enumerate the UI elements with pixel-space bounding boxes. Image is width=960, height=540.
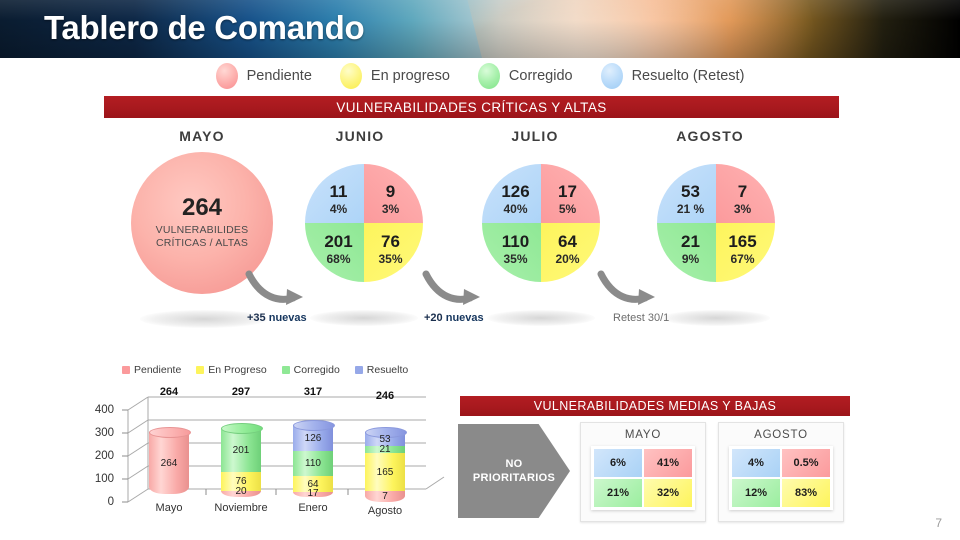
month-label-junio: JUNIO [280, 128, 440, 144]
bar-chart-legend: Pendiente En Progreso Corregido Resuelto [122, 364, 408, 376]
flow-note-junio-julio: +20 nuevas [424, 312, 484, 324]
bar-noviembre-label-pendiente: 20 [235, 486, 246, 497]
bar-agosto-label-corregido: 21 [379, 444, 390, 455]
x-tick-mayo: Mayo [131, 502, 207, 514]
mini-cell-mayo-pendiente: 41% [644, 449, 692, 477]
pie-row: MAYO JUNIO JULIO AGOSTO 264 VULNERABILID… [0, 128, 960, 338]
x-tick-agosto: Agosto [347, 505, 423, 517]
y-tick-0: 0 [88, 496, 114, 508]
pie-junio-progreso-percent: 35% [378, 253, 402, 265]
flow-note-julio-agosto: Retest 30/1 [613, 312, 669, 324]
bar-agosto-seg-corregido: 21 [365, 446, 405, 453]
bar-legend-label-pendiente: Pendiente [134, 364, 181, 376]
flow-note-1-word: nuevas [269, 312, 307, 324]
pie-julio-progreso-percent: 20% [555, 253, 579, 265]
mayo-caption-line1: VULNERABILIDES [156, 224, 249, 237]
bar-legend-label-corregido: Corregido [294, 364, 340, 376]
bar-enero-seg-pendiente: 17 [293, 492, 333, 497]
bar-total-agosto: 246 [354, 390, 416, 402]
pie-julio-pendiente-percent: 5% [559, 203, 576, 215]
no-prioritarios-line1: NO [473, 457, 555, 471]
y-tick-300: 300 [88, 427, 114, 439]
bar-enero-label-resuelto: 126 [305, 433, 322, 444]
legend-item-corregido: Corregido [478, 63, 573, 89]
pie-julio: 126 40% 17 5% 110 35% 64 20% [482, 164, 600, 282]
legend-item-resuelto: Resuelto (Retest) [601, 63, 745, 89]
no-prioritarios-label: NO PRIORITARIOS [473, 457, 555, 486]
bar-enero-cap [293, 420, 335, 431]
bar-mayo-label-pendiente: 264 [161, 458, 178, 469]
month-label-agosto: AGOSTO [630, 128, 790, 144]
shadow-junio [310, 310, 418, 326]
flow-note-2-word: nuevas [446, 312, 484, 324]
section-banner-medias: VULNERABILIDADES MEDIAS Y BAJAS [460, 396, 850, 416]
bar-noviembre-seg-corregido: 201 [221, 428, 261, 472]
pie-julio-corregido: 110 35% [482, 223, 541, 282]
x-tick-noviembre: Noviembre [203, 502, 279, 514]
pie-julio-resuelto-percent: 40% [503, 203, 527, 215]
pie-agosto: 53 21 % 7 3% 21 9% 165 67% [657, 164, 775, 282]
bar-agosto-seg-progreso: 165 [365, 453, 405, 491]
mini-cell-agosto-corregido: 12% [732, 479, 780, 507]
pie-julio-progreso-value: 64 [558, 233, 577, 250]
pie-agosto-corregido-percent: 9% [682, 253, 699, 265]
mini-panel-mayo-title: MAYO [625, 429, 661, 441]
flow-arrow-julio-agosto [597, 268, 659, 310]
pie-julio-corregido-percent: 35% [503, 253, 527, 265]
legend-item-pendiente: Pendiente [216, 63, 312, 89]
pie-julio-resuelto-value: 126 [501, 183, 529, 200]
bar-enero-label-corregido: 110 [305, 458, 321, 469]
section-banner-criticas: VULNERABILIDADES CRÍTICAS Y ALTAS [104, 96, 839, 118]
bar-mayo-cap [149, 427, 191, 438]
flow-note-3-prefix: Retest 30/1 [613, 312, 669, 324]
pie-junio-progreso: 76 35% [364, 223, 423, 282]
legend-label-pendiente: Pendiente [247, 68, 312, 84]
pie-agosto-progreso: 165 67% [716, 223, 775, 282]
mini-panel-agosto-title: AGOSTO [754, 429, 808, 441]
bar-agosto-label-resuelto: 53 [379, 434, 390, 445]
bar-legend-item-corregido: Corregido [282, 364, 340, 376]
bar-total-enero: 317 [282, 386, 344, 398]
no-prioritarios-line2: PRIORITARIOS [473, 471, 555, 485]
flow-note-1-prefix: +35 [247, 312, 266, 324]
mini-cell-agosto-resuelto: 4% [732, 449, 780, 477]
flow-note-2-prefix: +20 [424, 312, 443, 324]
status-dot-resuelto-icon [601, 63, 623, 89]
x-tick-enero: Enero [275, 502, 351, 514]
pie-agosto-corregido: 21 9% [657, 223, 716, 282]
bar-column-mayo: 264 [149, 432, 189, 494]
pie-junio-pendiente-percent: 3% [382, 203, 399, 215]
flow-arrow-junio-julio [422, 268, 484, 310]
mini-grid-agosto: 4% 0.5% 12% 83% [729, 446, 833, 510]
legend-label-en-progreso: En progreso [371, 68, 450, 84]
pie-agosto-corregido-value: 21 [681, 233, 700, 250]
header-light-sheen [461, 0, 830, 58]
pie-junio-resuelto: 11 4% [305, 164, 364, 223]
pie-agosto-progreso-percent: 67% [730, 253, 754, 265]
pie-agosto-pendiente-value: 7 [738, 183, 747, 200]
bar-legend-item-en-progreso: En Progreso [196, 364, 266, 376]
mini-panel-mayo: MAYO 6% 41% 21% 32% [580, 422, 706, 522]
pie-julio-resuelto: 126 40% [482, 164, 541, 223]
bar-legend-item-resuelto: Resuelto [355, 364, 408, 376]
pie-agosto-resuelto-percent: 21 % [677, 203, 704, 215]
bar-legend-swatch-en-progreso [196, 366, 204, 374]
pie-agosto-pendiente: 7 3% [716, 164, 775, 223]
mini-cell-mayo-progreso: 32% [644, 479, 692, 507]
legend-item-en-progreso: En progreso [340, 63, 450, 89]
mini-cell-mayo-corregido: 21% [594, 479, 642, 507]
mini-panel-agosto: AGOSTO 4% 0.5% 12% 83% [718, 422, 844, 522]
bar-column-enero: 126 110 64 17 [293, 425, 333, 497]
month-label-julio: JULIO [455, 128, 615, 144]
pie-agosto-resuelto-value: 53 [681, 183, 700, 200]
y-tick-400: 400 [88, 404, 114, 416]
bar-legend-label-en-progreso: En Progreso [208, 364, 266, 376]
mini-cell-agosto-pendiente: 0.5% [782, 449, 830, 477]
shadow-agosto [662, 310, 770, 326]
y-tick-200: 200 [88, 450, 114, 462]
status-dot-corregido-icon [478, 63, 500, 89]
pie-julio-pendiente-value: 17 [558, 183, 577, 200]
bar-column-agosto: 53 21 165 7 [365, 432, 405, 502]
bar-total-mayo: 264 [138, 386, 200, 398]
y-tick-100: 100 [88, 473, 114, 485]
pie-junio-resuelto-percent: 4% [330, 203, 347, 215]
pie-junio-corregido: 201 68% [305, 223, 364, 282]
pie-junio-corregido-percent: 68% [326, 253, 350, 265]
pie-julio-pendiente: 17 5% [541, 164, 600, 223]
mayo-total-value: 264 [182, 196, 222, 220]
status-dot-pendiente-icon [216, 63, 238, 89]
mayo-total-caption: VULNERABILIDES CRÍTICAS / ALTAS [156, 224, 249, 250]
bar-legend-swatch-pendiente [122, 366, 130, 374]
pie-junio-progreso-value: 76 [381, 233, 400, 250]
bar-noviembre-label-corregido: 201 [233, 445, 250, 456]
pie-julio-progreso: 64 20% [541, 223, 600, 282]
pie-junio: 11 4% 9 3% 201 68% 76 35% [305, 164, 423, 282]
bar-agosto-label-progreso: 165 [377, 467, 394, 478]
mini-grid-mayo: 6% 41% 21% 32% [591, 446, 695, 510]
pie-agosto-progreso-value: 165 [728, 233, 756, 250]
pie-junio-corregido-value: 201 [324, 233, 352, 250]
pie-junio-pendiente: 9 3% [364, 164, 423, 223]
bar-column-noviembre: 201 76 20 [221, 428, 261, 497]
bar-enero-label-pendiente: 17 [307, 488, 318, 499]
pie-junio-resuelto-value: 11 [330, 183, 348, 200]
bar-agosto-label-pendiente: 7 [382, 491, 388, 502]
flow-arrow-mayo-junio [245, 268, 307, 310]
page-title: Tablero de Comando [44, 9, 364, 47]
bar-plot-area: 0 100 200 300 400 264 297 317 246 264 20… [86, 394, 456, 534]
month-label-mayo: MAYO [122, 128, 282, 144]
bar-noviembre-cap [221, 423, 263, 434]
bar-legend-swatch-resuelto [355, 366, 363, 374]
legend-label-corregido: Corregido [509, 68, 573, 84]
bar-agosto-seg-pendiente: 7 [365, 491, 405, 502]
flow-note-mayo-junio: +35 nuevas [247, 312, 307, 324]
pie-junio-pendiente-value: 9 [386, 183, 395, 200]
shadow-julio [487, 310, 595, 326]
bar-legend-label-resuelto: Resuelto [367, 364, 408, 376]
bar-enero-seg-corregido: 110 [293, 451, 333, 476]
mini-cell-agosto-progreso: 83% [782, 479, 830, 507]
stacked-bar-chart: Pendiente En Progreso Corregido Resuelto [86, 362, 456, 534]
no-prioritarios-badge: NO PRIORITARIOS [458, 424, 570, 518]
pie-julio-corregido-value: 110 [502, 233, 529, 250]
status-dot-en-progreso-icon [340, 63, 362, 89]
page-number: 7 [935, 516, 942, 530]
mayo-caption-line2: CRÍTICAS / ALTAS [156, 237, 249, 250]
pie-agosto-pendiente-percent: 3% [734, 203, 751, 215]
bar-legend-swatch-corregido [282, 366, 290, 374]
pie-agosto-resuelto: 53 21 % [657, 164, 716, 223]
bar-noviembre-seg-pendiente: 20 [221, 491, 261, 497]
bar-legend-item-pendiente: Pendiente [122, 364, 181, 376]
bar-mayo-seg-pendiente: 264 [149, 432, 189, 494]
mini-cell-mayo-resuelto: 6% [594, 449, 642, 477]
bar-total-noviembre: 297 [210, 386, 272, 398]
legend-label-resuelto: Resuelto (Retest) [632, 68, 745, 84]
status-legend: Pendiente En progreso Corregido Resuelto… [0, 60, 960, 92]
